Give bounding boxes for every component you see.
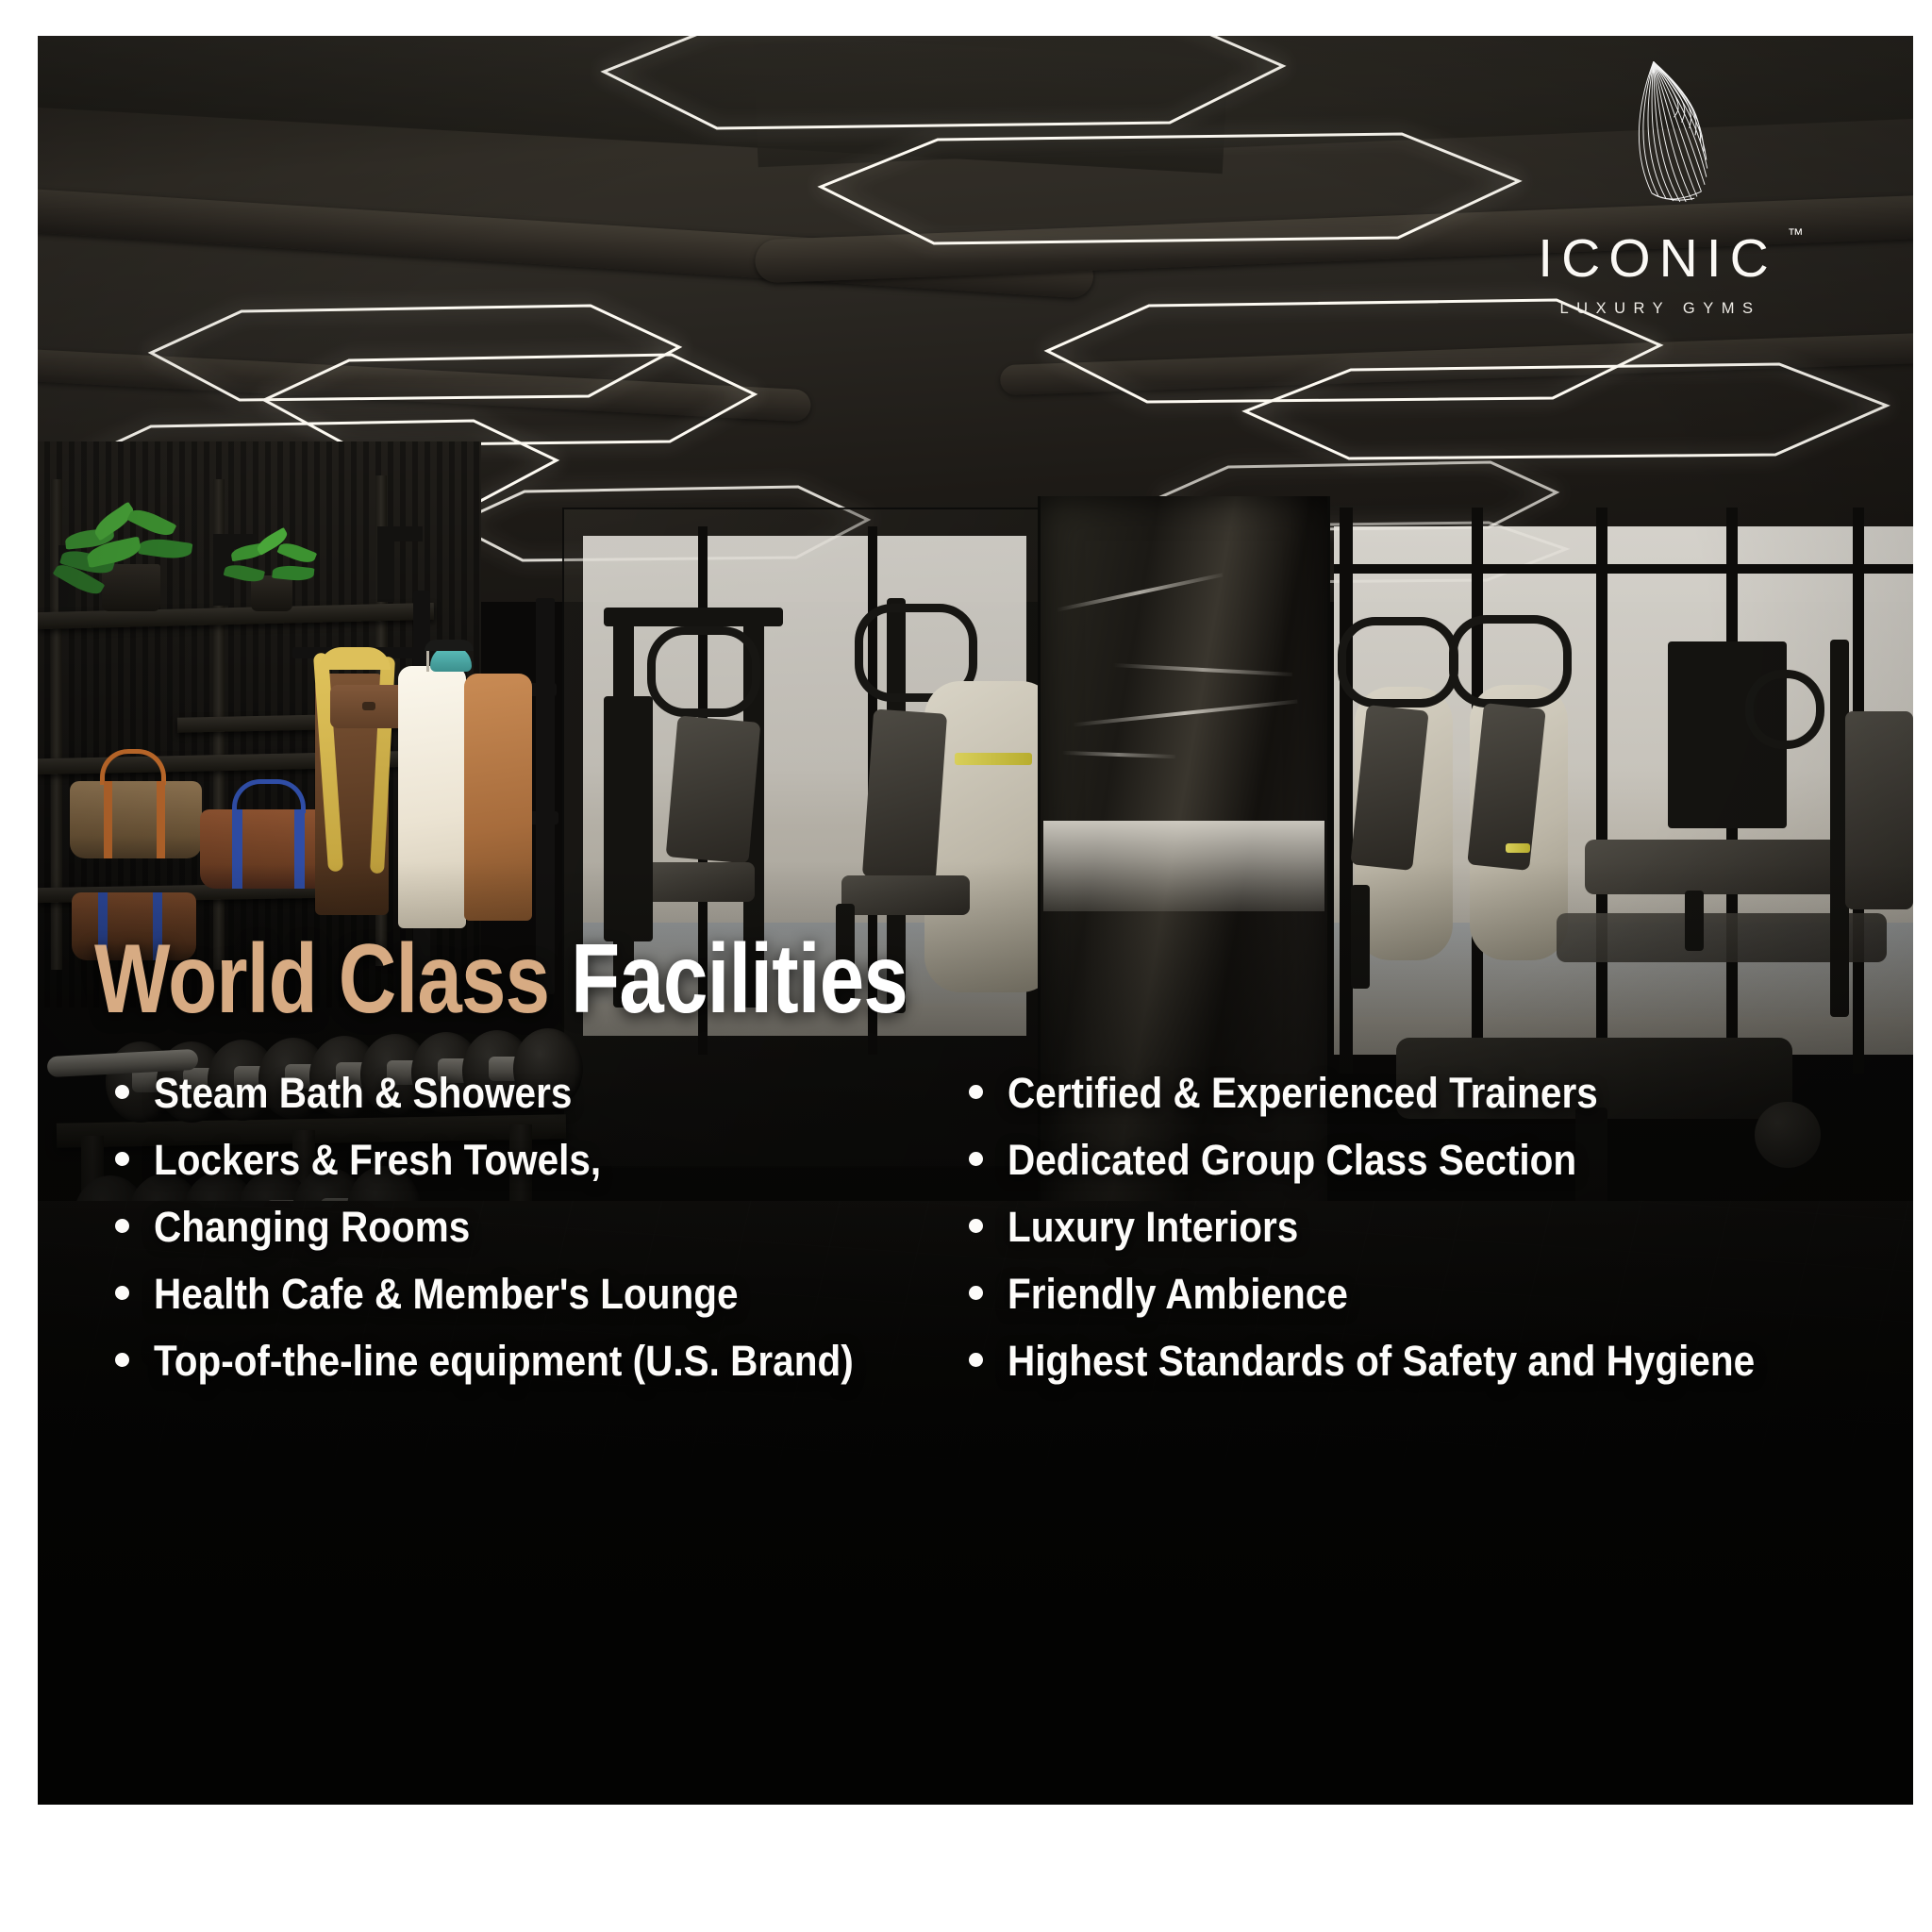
machine-backrest-pad bbox=[666, 715, 761, 863]
window-transom bbox=[1334, 564, 1913, 574]
list-item: Luxury Interiors bbox=[952, 1206, 1889, 1273]
machine-pad bbox=[1845, 711, 1913, 909]
features-list: Steam Bath & Showers Lockers & Fresh Tow… bbox=[77, 1072, 1889, 1407]
hexagon-ceiling-light bbox=[604, 36, 1283, 130]
bag-strap bbox=[294, 809, 305, 889]
bullet-dot-icon bbox=[969, 1219, 983, 1233]
hexagon-ceiling-light bbox=[821, 134, 1519, 245]
brand-logo: ICONIC ™ LUXURY GYMS bbox=[1519, 57, 1802, 318]
cap-brim bbox=[425, 640, 474, 651]
window-mullion bbox=[1340, 508, 1353, 1074]
garment-yellow-scarf-collar bbox=[319, 647, 391, 670]
feature-label: Luxury Interiors bbox=[1008, 1206, 1298, 1248]
flame-leaf-linework-icon bbox=[1600, 57, 1721, 219]
shelf-bracket bbox=[377, 526, 423, 541]
leather-duffel-bag bbox=[70, 781, 202, 858]
weight-stack bbox=[604, 696, 653, 941]
trademark-symbol: ™ bbox=[1788, 226, 1804, 242]
bag-strap bbox=[104, 781, 112, 858]
hanger-hook bbox=[426, 651, 429, 672]
bullet-dot-icon bbox=[115, 1085, 129, 1099]
mirror-floor-reflection bbox=[1043, 821, 1324, 911]
window-mullion bbox=[1596, 508, 1607, 1074]
list-item: Steam Bath & Showers bbox=[77, 1072, 931, 1139]
bullet-dot-icon bbox=[969, 1085, 983, 1099]
machine-backrest-pad bbox=[862, 708, 947, 881]
poster-canvas: ICONIC ™ LUXURY GYMS World Class Facilit… bbox=[38, 36, 1913, 1805]
bag-clasp bbox=[362, 702, 375, 710]
list-item: Dedicated Group Class Section bbox=[952, 1139, 1889, 1206]
feature-label: Steam Bath & Showers bbox=[154, 1072, 572, 1114]
list-item: Health Cafe & Member's Lounge bbox=[77, 1273, 931, 1340]
title-accent-text: World Class bbox=[94, 924, 549, 1034]
bullet-dot-icon bbox=[969, 1152, 983, 1166]
feature-label: Certified & Experienced Trainers bbox=[1008, 1072, 1598, 1114]
brand-wordmark: ICONIC ™ bbox=[1538, 232, 1783, 286]
machine-arm bbox=[647, 626, 760, 717]
bench-pad bbox=[1585, 840, 1858, 894]
bullet-dot-icon bbox=[115, 1286, 129, 1300]
bullet-dot-icon bbox=[115, 1353, 129, 1367]
machine-brand-logo bbox=[1506, 843, 1530, 853]
page-title: World Class Facilities bbox=[94, 930, 908, 1028]
list-item: Lockers & Fresh Towels, bbox=[77, 1139, 931, 1206]
bullet-dot-icon bbox=[115, 1219, 129, 1233]
bag-strap bbox=[157, 781, 165, 858]
feature-label: Changing Rooms bbox=[154, 1206, 470, 1248]
garment-camel-coat bbox=[464, 674, 532, 921]
brand-name: ICONIC bbox=[1538, 228, 1777, 289]
machine-arm bbox=[1745, 670, 1824, 749]
bullet-dot-icon bbox=[969, 1353, 983, 1367]
feature-label: Highest Standards of Safety and Hygiene bbox=[1008, 1340, 1755, 1382]
feature-label: Friendly Ambience bbox=[1008, 1273, 1348, 1315]
machine-brand-logo bbox=[955, 753, 1032, 765]
bag-handle bbox=[232, 779, 306, 813]
feature-label: Top-of-the-line equipment (U.S. Brand) bbox=[154, 1340, 854, 1382]
features-column-left: Steam Bath & Showers Lockers & Fresh Tow… bbox=[77, 1072, 931, 1407]
list-item: Changing Rooms bbox=[77, 1206, 931, 1273]
bench-leg bbox=[1685, 891, 1704, 951]
machine-frame bbox=[604, 608, 783, 626]
machine-arm bbox=[1338, 617, 1458, 708]
feature-label: Health Cafe & Member's Lounge bbox=[154, 1273, 738, 1315]
hexagon-ceiling-light bbox=[1245, 364, 1887, 458]
list-item: Friendly Ambience bbox=[952, 1273, 1889, 1340]
list-item: Certified & Experienced Trainers bbox=[952, 1072, 1889, 1139]
features-column-right: Certified & Experienced Trainers Dedicat… bbox=[952, 1072, 1889, 1407]
brand-tagline: LUXURY GYMS bbox=[1519, 300, 1802, 318]
list-item: Highest Standards of Safety and Hygiene bbox=[952, 1340, 1889, 1407]
list-item: Top-of-the-line equipment (U.S. Brand) bbox=[77, 1340, 931, 1407]
feature-label: Lockers & Fresh Towels, bbox=[154, 1139, 601, 1181]
title-plain-text: Facilities bbox=[571, 924, 908, 1034]
feature-label: Dedicated Group Class Section bbox=[1008, 1139, 1576, 1181]
garment-white-coat bbox=[398, 666, 466, 928]
machine-arm bbox=[1449, 615, 1572, 708]
bullet-dot-icon bbox=[115, 1152, 129, 1166]
bag-strap bbox=[232, 809, 242, 889]
machine-seat-pad bbox=[841, 875, 970, 915]
machine-leg bbox=[1351, 885, 1370, 989]
bullet-dot-icon bbox=[969, 1286, 983, 1300]
